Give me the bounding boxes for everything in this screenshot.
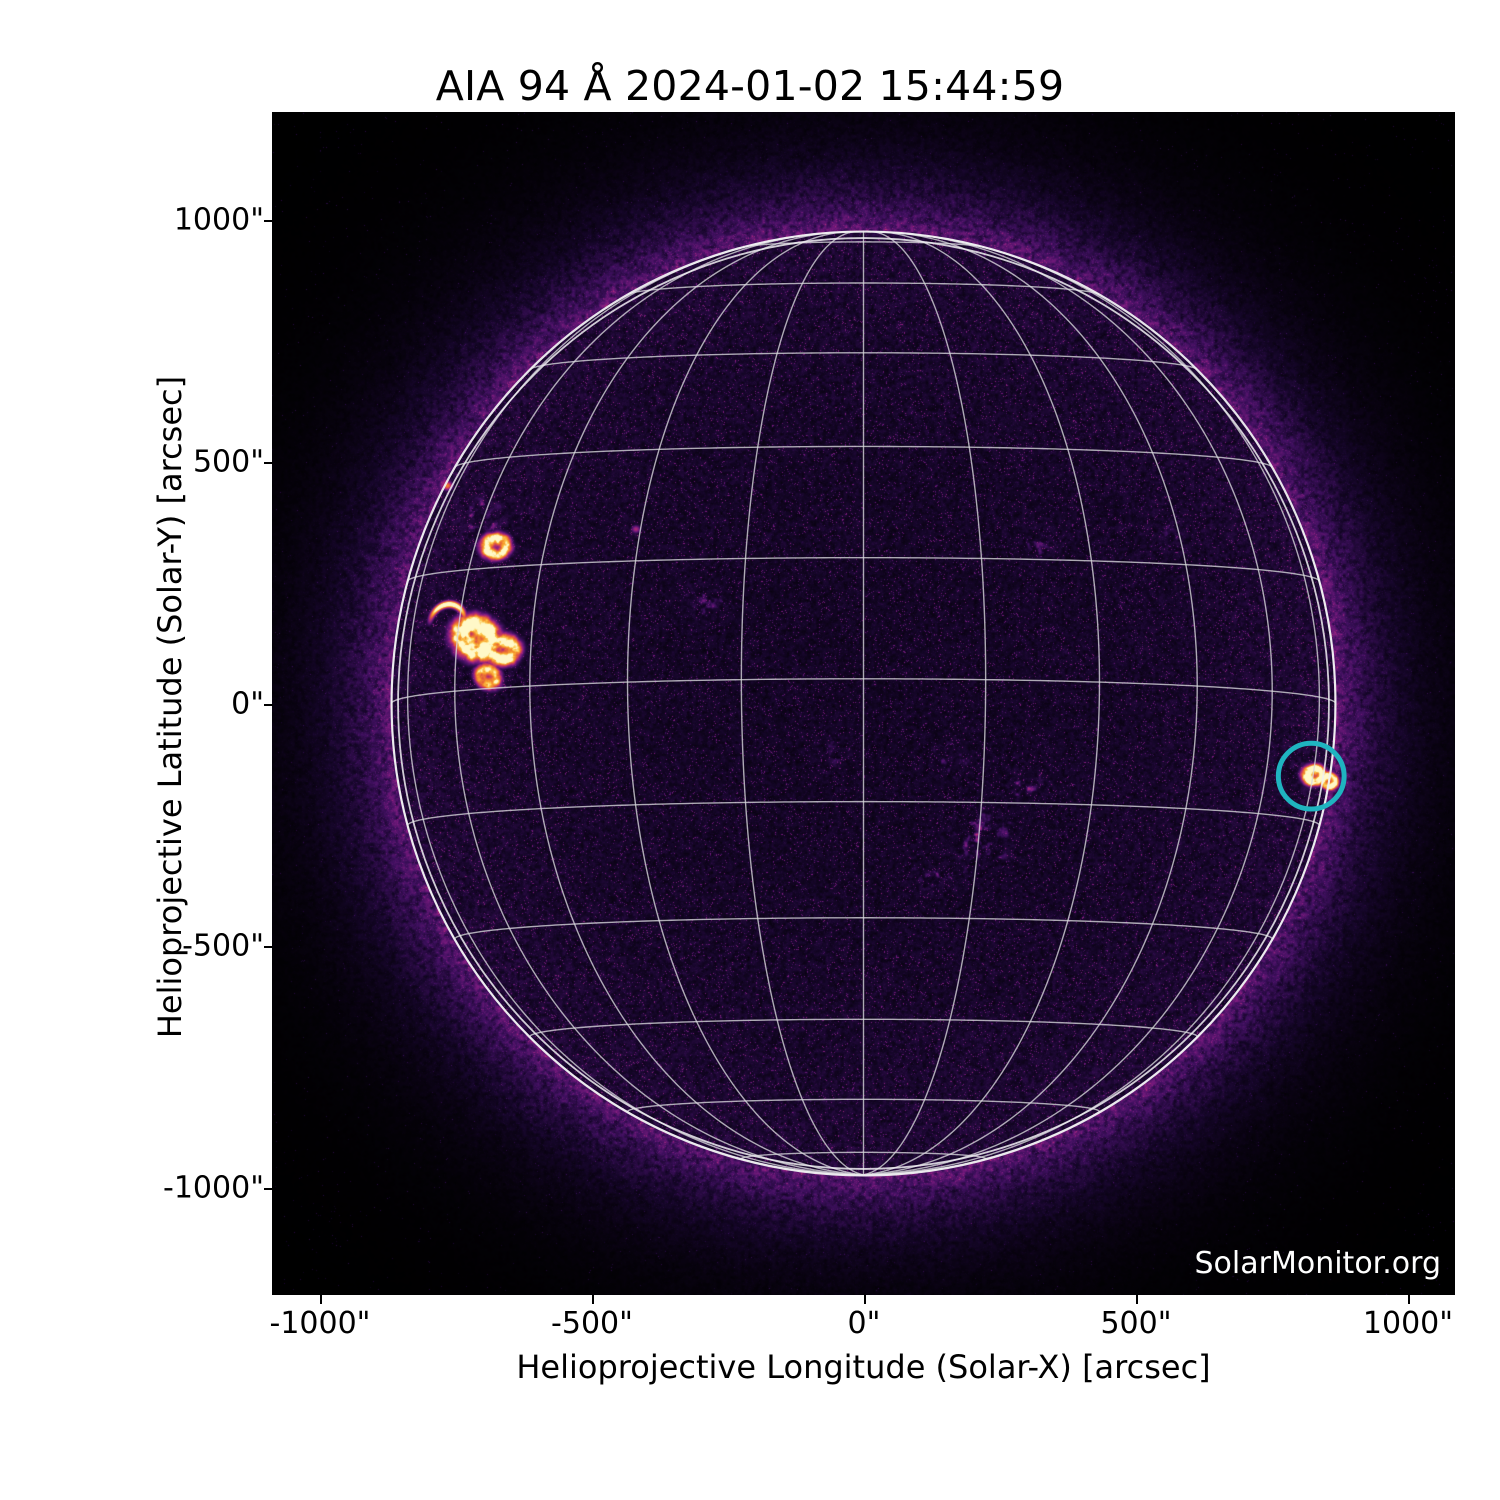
x-tick-label: 1000" bbox=[1363, 1306, 1453, 1341]
y-tick-mark bbox=[264, 704, 273, 706]
y-tick-mark bbox=[264, 462, 273, 464]
x-tick-label: -1000" bbox=[270, 1306, 371, 1341]
x-tick-mark bbox=[1408, 1295, 1410, 1304]
y-tick-label: 500" bbox=[193, 445, 264, 480]
x-tick-label: 500" bbox=[1100, 1306, 1171, 1341]
x-tick-mark bbox=[1136, 1295, 1138, 1304]
solarmonitor-watermark: SolarMonitor.org bbox=[1195, 1246, 1441, 1281]
x-axis-label: Helioprojective Longitude (Solar-X) [arc… bbox=[272, 1348, 1455, 1386]
y-tick-label: 1000" bbox=[174, 203, 264, 238]
x-tick-mark bbox=[592, 1295, 594, 1304]
solar-image-figure: AIA 94 Å 2024-01-02 15:44:59 SolarMonito… bbox=[0, 0, 1500, 1500]
y-tick-label: -1000" bbox=[163, 1171, 264, 1206]
x-tick-label: 0" bbox=[848, 1306, 881, 1341]
y-tick-label: -500" bbox=[182, 929, 264, 964]
solar-disk-image bbox=[272, 112, 1455, 1295]
x-tick-label: -500" bbox=[551, 1306, 633, 1341]
figure-title: AIA 94 Å 2024-01-02 15:44:59 bbox=[0, 62, 1500, 110]
y-tick-mark bbox=[264, 946, 273, 948]
solar-image-plot-area[interactable]: SolarMonitor.org bbox=[272, 112, 1455, 1295]
y-tick-mark bbox=[264, 1188, 273, 1190]
y-tick-mark bbox=[264, 220, 273, 222]
x-tick-mark bbox=[320, 1295, 322, 1304]
x-tick-mark bbox=[864, 1295, 866, 1304]
y-tick-label: 0" bbox=[231, 687, 264, 722]
